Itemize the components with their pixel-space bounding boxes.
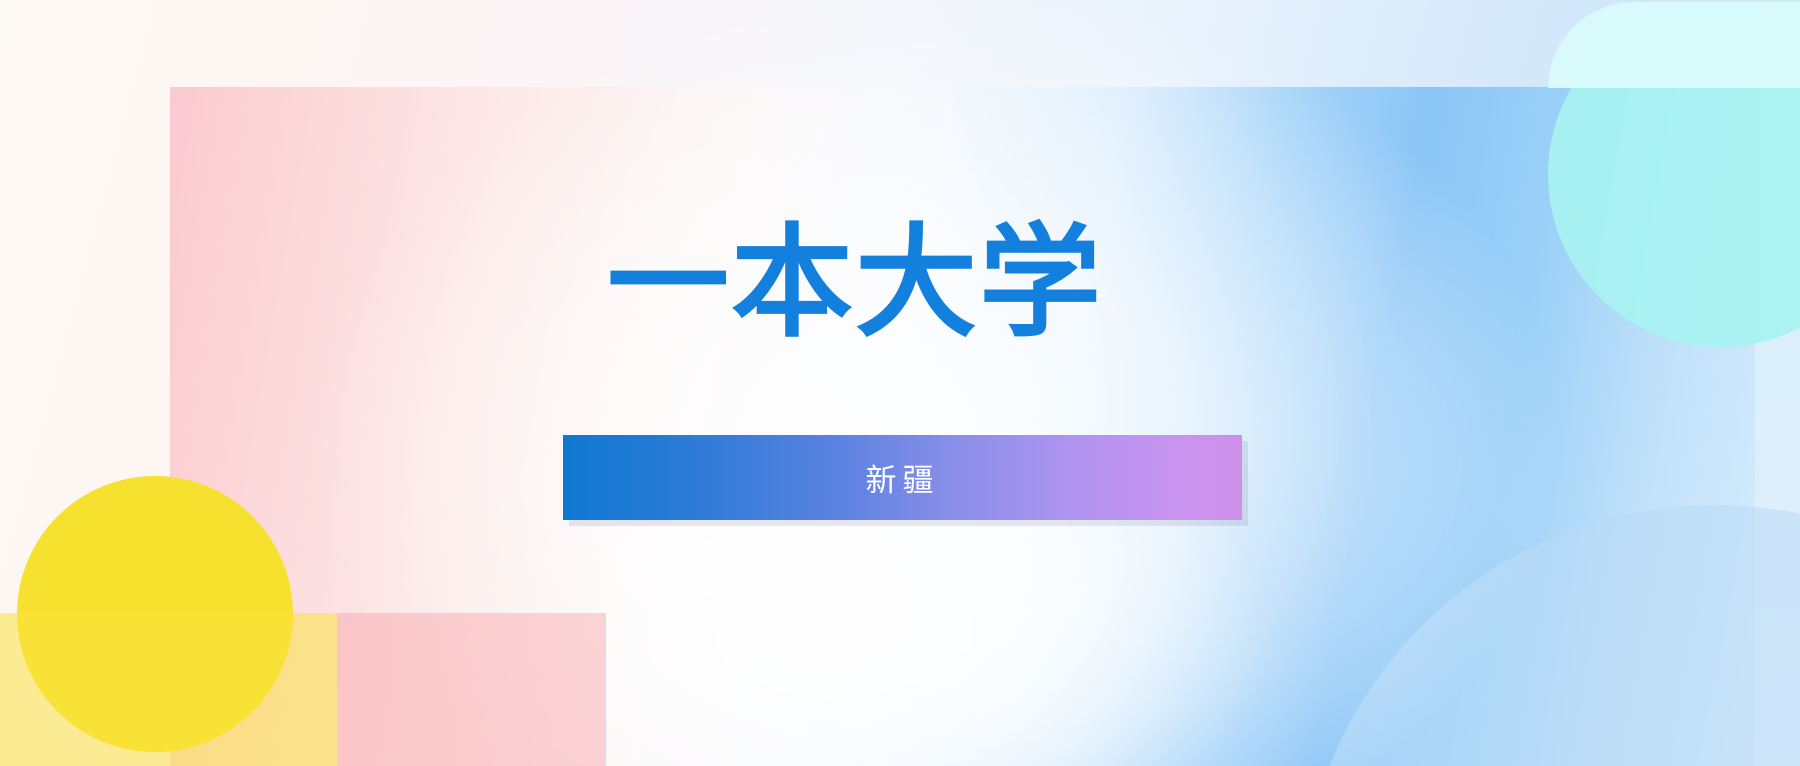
region-badge: 新疆: [563, 435, 1242, 520]
banner-canvas: 一本大学 新疆: [0, 0, 1800, 766]
region-badge-label: 新疆: [866, 455, 940, 500]
banner-content: 一本大学 新疆: [0, 0, 1800, 766]
page-title: 一本大学: [0, 218, 1710, 350]
